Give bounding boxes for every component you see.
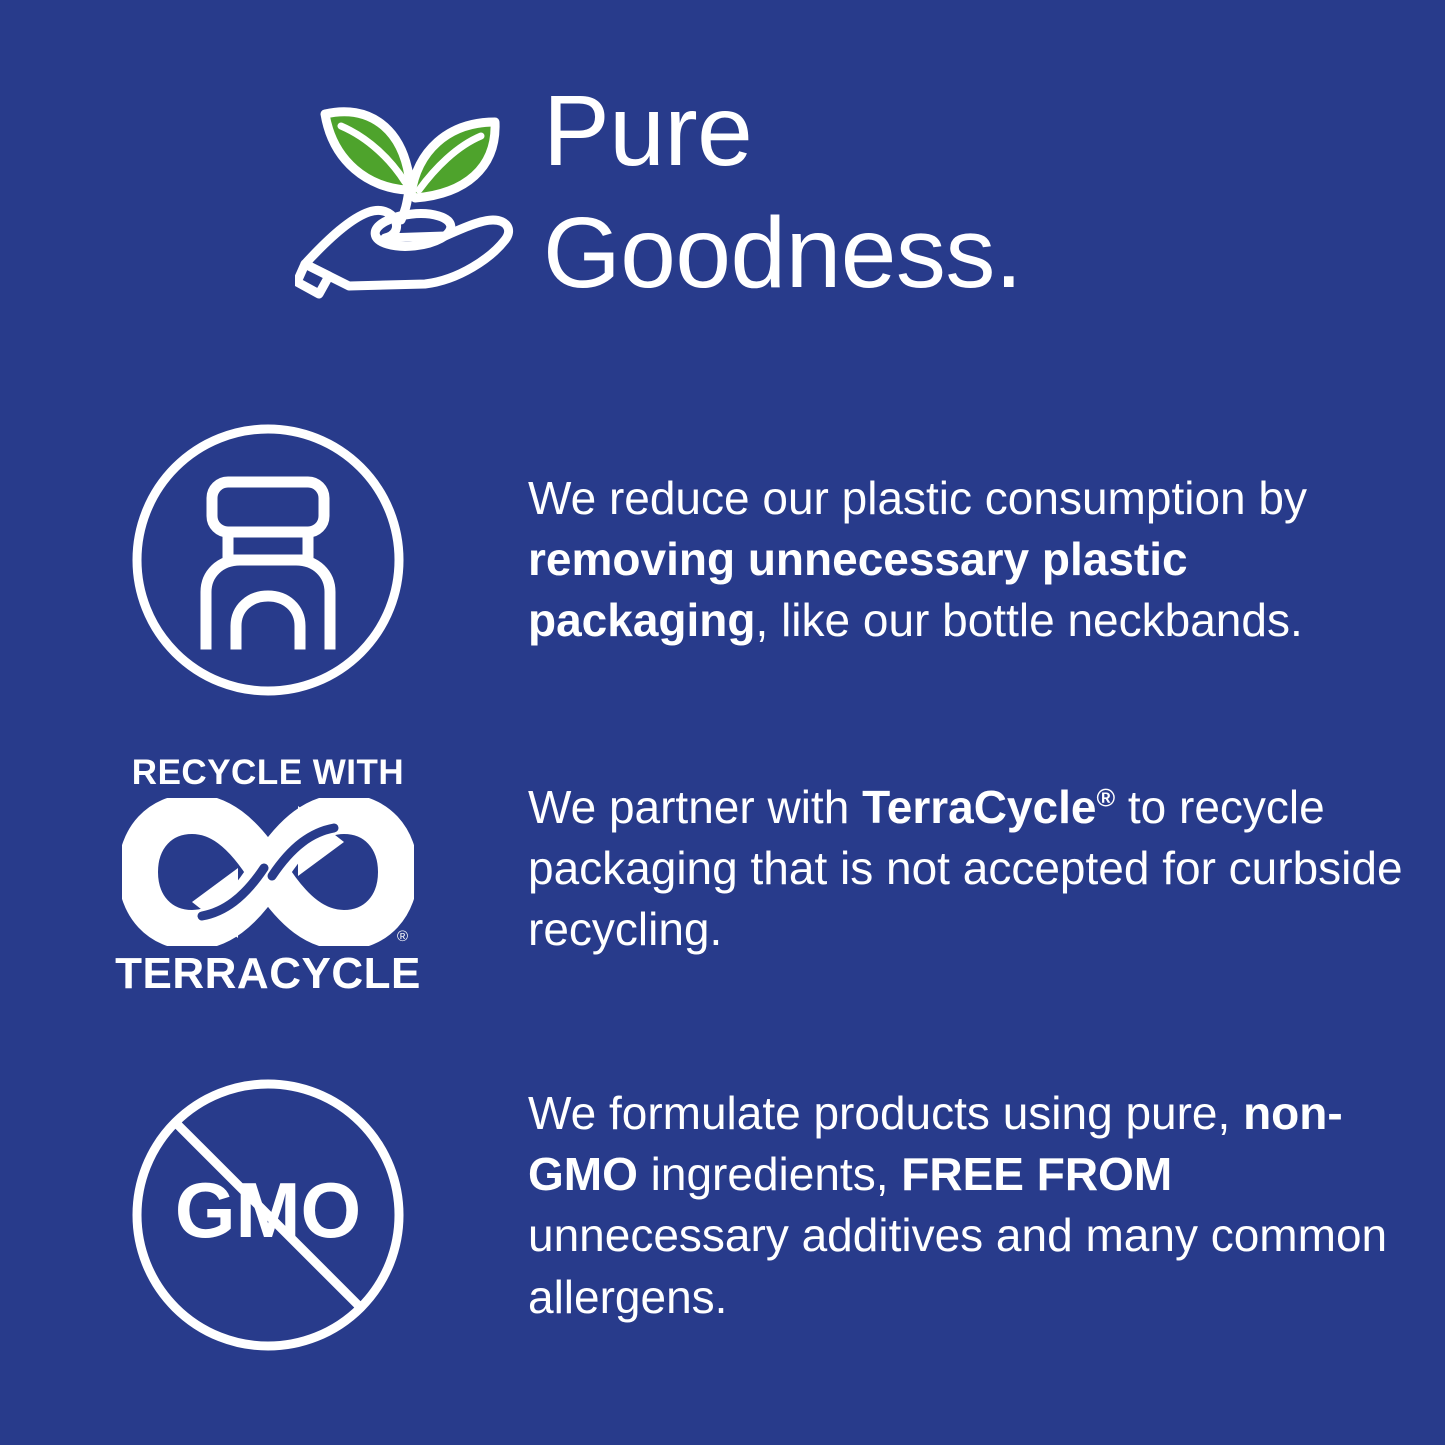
terracycle-bottom-label: TERRACYCLE [115,952,421,996]
feature-text-non-gmo: We formulate products using pure, non-GM… [528,1083,1418,1328]
pure-goodness-panel: Pure Goodness. We reduce our plastic con… [0,0,1445,1445]
feature-text-plastic-reduction: We reduce our plastic consumption by rem… [528,468,1418,652]
bottle-in-circle-icon [128,420,408,700]
header: Pure Goodness. [295,70,1022,314]
feature-icon-slot: RECYCLE WITH [118,755,418,996]
hand-holding-sprout-icon [295,78,525,303]
feature-icon-slot: GMO [118,1075,418,1355]
terracycle-logo-icon: RECYCLE WITH [122,755,414,996]
feature-icon-slot [118,420,418,700]
feature-row-terracycle: RECYCLE WITH [118,755,1418,996]
feature-row-plastic-reduction: We reduce our plastic consumption by rem… [118,420,1418,700]
terracycle-top-label: RECYCLE WITH [132,755,404,790]
registered-mark: ® [397,929,408,944]
feature-row-non-gmo: GMO We formulate products using pure, no… [118,1075,1418,1355]
feature-text-terracycle: We partner with TerraCycle® to recycle p… [528,777,1418,961]
page-title: Pure Goodness. [543,70,1022,314]
no-gmo-icon: GMO [128,1075,408,1355]
infinity-arrows-icon: ® [122,798,414,946]
gmo-label: GMO [175,1166,361,1254]
